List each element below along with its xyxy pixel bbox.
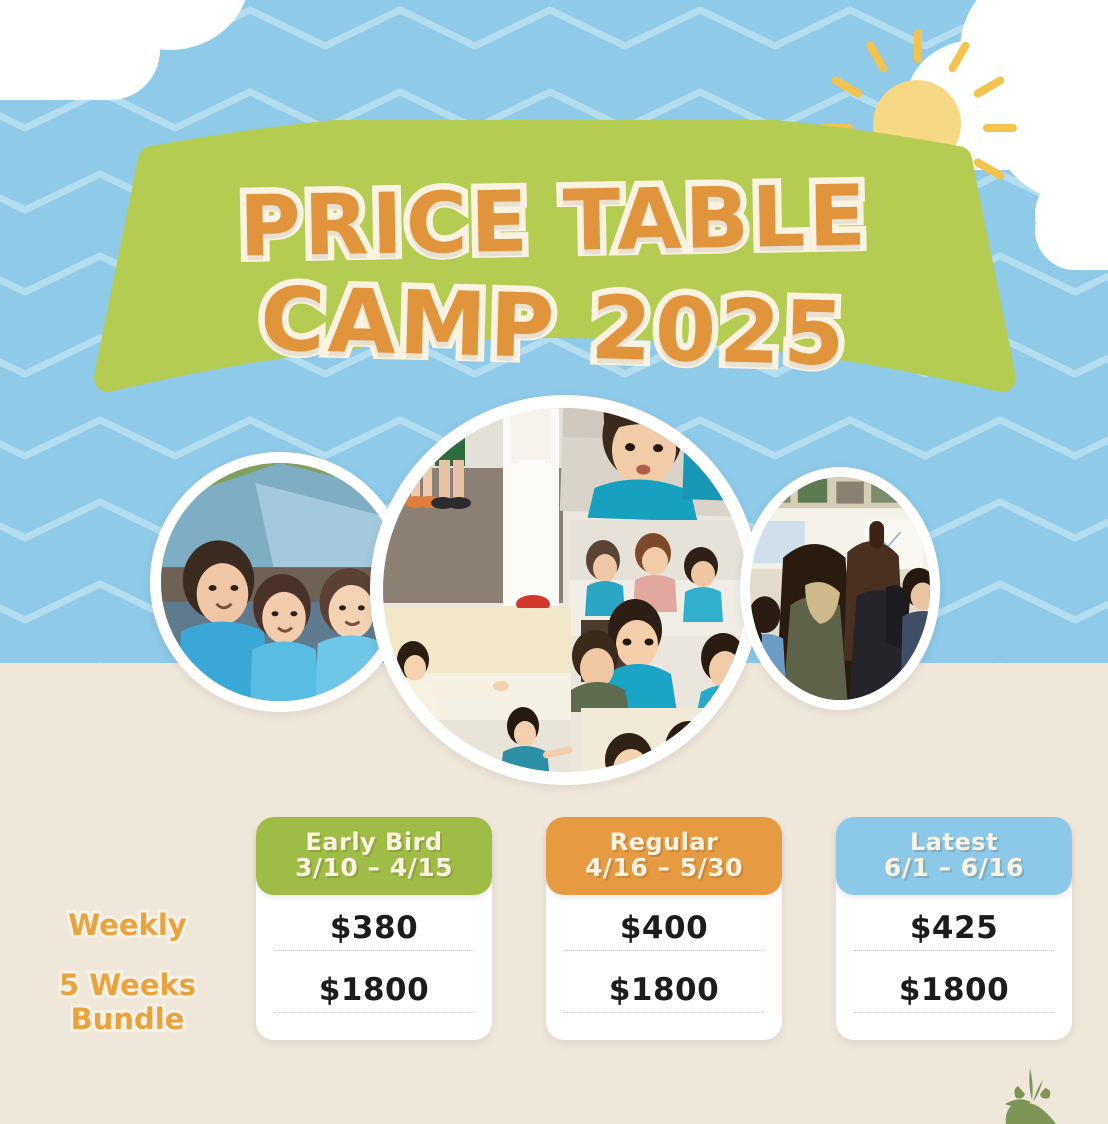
card-title-early-bird: Early Bird [305,830,442,855]
card-dates-regular: 4/16 – 5/30 [585,855,743,881]
banner-arc-shape [90,120,1020,410]
card-header-latest: Latest 6/1 – 6/16 [836,817,1072,895]
card-title-regular: Regular [610,830,719,855]
price-underline [854,949,1054,951]
price-cell-early-bird-bundle: $1800 [274,972,474,1013]
card-body-latest: $425 $1800 [836,896,1072,1040]
price-underline [564,949,764,951]
price-underline [274,949,474,951]
price-cell-regular-bundle: $1800 [564,972,764,1013]
card-title-latest: Latest [910,830,998,855]
price-value: $380 [274,910,474,946]
price-card-latest[interactable]: Latest 6/1 – 6/16 $425 $1800 [836,818,1072,1040]
price-table: Weekly 5 Weeks Bundle Early Bird 3/10 – … [0,800,1108,1060]
price-value: $425 [854,910,1054,946]
price-table-poster: PRICE TABLE CAMP 2025 [0,0,1108,1124]
cloud-icon [1035,130,1108,270]
row-label-bundle: 5 Weeks Bundle [0,968,255,1036]
price-cell-regular-weekly: $400 [564,910,764,951]
card-body-early-bird: $380 $1800 [256,896,492,1040]
price-cell-early-bird-weekly: $380 [274,910,474,951]
price-value: $400 [564,910,764,946]
price-value: $1800 [564,972,764,1008]
price-cell-latest-weekly: $425 [854,910,1054,951]
card-header-early-bird: Early Bird 3/10 – 4/15 [256,817,492,895]
row-labels: Weekly 5 Weeks Bundle [0,800,255,1060]
card-dates-early-bird: 3/10 – 4/15 [295,855,453,881]
price-card-regular[interactable]: Regular 4/16 – 5/30 $400 $1800 [546,818,782,1040]
cloud-icon [0,0,240,130]
price-underline [274,1011,474,1013]
price-underline [854,1011,1054,1013]
price-cell-latest-bundle: $1800 [854,972,1054,1013]
card-dates-latest: 6/1 – 6/16 [884,855,1024,881]
photo-collage-activities [370,395,760,785]
photo-classroom-visit [740,467,940,710]
row-label-weekly: Weekly [0,908,255,942]
plant-icon [985,1060,1075,1124]
price-underline [564,1011,764,1013]
price-value: $1800 [854,972,1054,1008]
card-body-regular: $400 $1800 [546,896,782,1040]
price-card-early-bird[interactable]: Early Bird 3/10 – 4/15 $380 $1800 [256,818,492,1040]
price-value: $1800 [274,972,474,1008]
card-header-regular: Regular 4/16 – 5/30 [546,817,782,895]
